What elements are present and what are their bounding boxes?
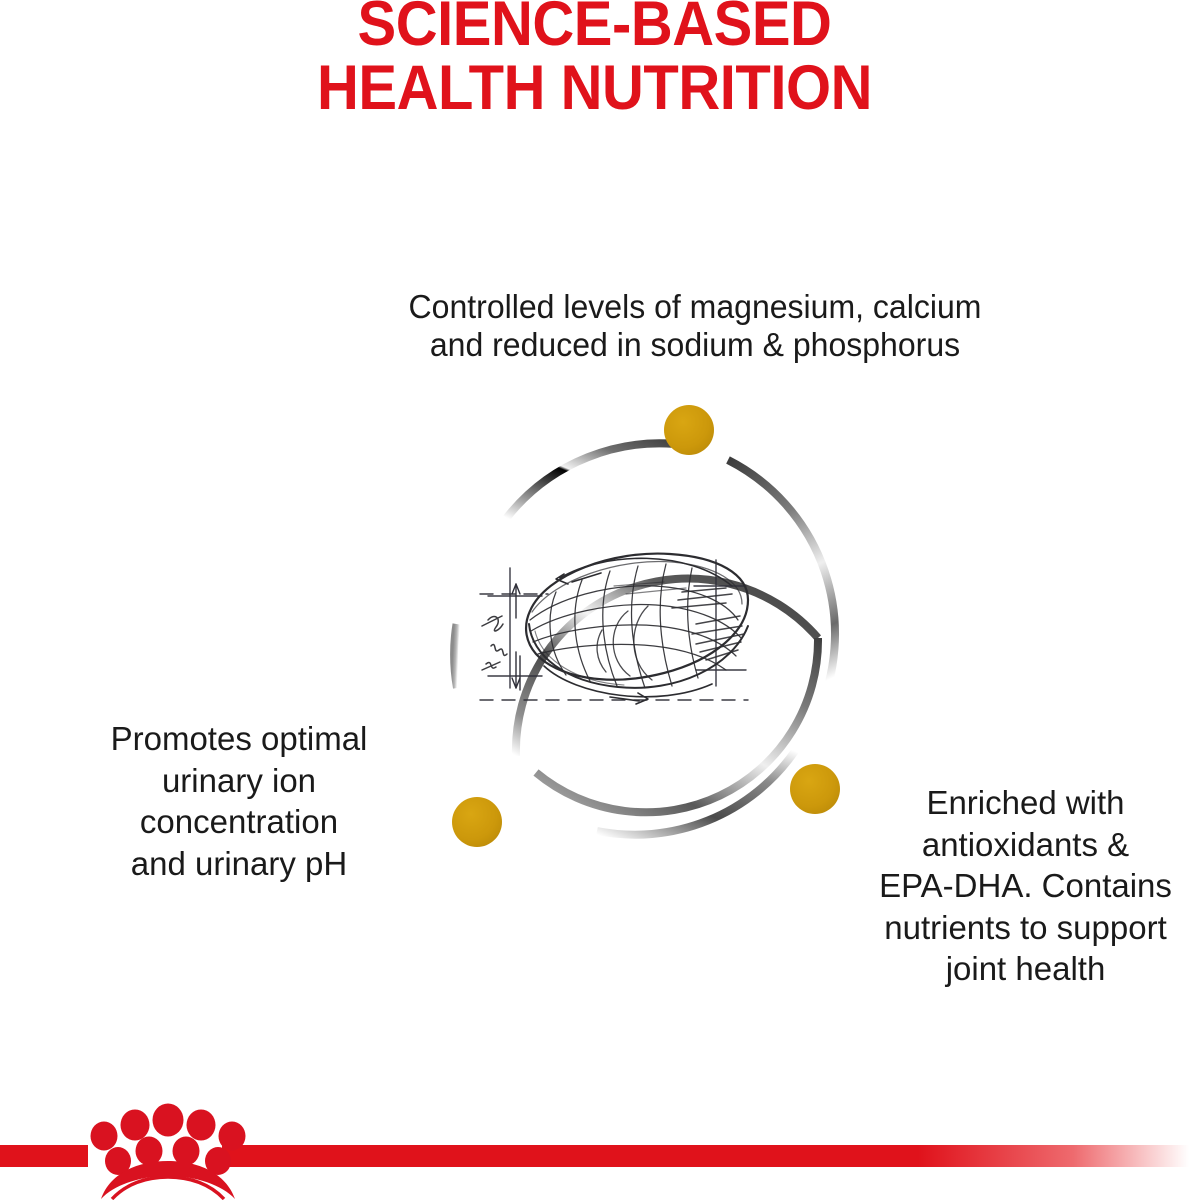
science-based-health-nutrition-panel: SCIENCE-BASED HEALTH NUTRITION Controlle… [0,0,1189,1200]
page-title-line-2: HEALTH NUTRITION [48,56,1142,120]
feature-caption-right-line-1: Enriched with [862,782,1189,824]
page-title-line-1: SCIENCE-BASED [48,0,1142,56]
feature-caption-right-line-3: EPA-DHA. Contains [862,865,1189,907]
feature-caption-left-line-3: concentration [40,801,438,843]
gold-dot-right [790,764,840,814]
feature-caption-left-line-4: and urinary pH [40,843,438,885]
feature-caption-left: Promotes optimal urinary ion concentrati… [40,718,438,884]
feature-caption-right-line-4: nutrients to support [862,907,1189,949]
feature-caption-right-line-2: antioxidants & [862,824,1189,866]
brand-footer [0,1095,1189,1200]
feature-caption-top-line-1: Controlled levels of magnesium, calcium [278,288,1112,326]
kibble-emblem [396,388,896,888]
gold-dot-top [664,405,714,455]
feature-caption-right: Enriched with antioxidants & EPA-DHA. Co… [862,782,1189,990]
gold-dot-bottom-left [452,797,502,847]
crown-logo-icon [91,1104,246,1200]
outer-ring-arc [454,443,835,834]
footer-bar-right [222,1145,1189,1167]
footer-bar-left [0,1145,88,1167]
feature-caption-left-line-1: Promotes optimal [40,718,438,760]
feature-caption-top: Controlled levels of magnesium, calcium … [278,288,1112,365]
feature-caption-left-line-2: urinary ion [40,760,438,802]
feature-caption-top-line-2: and reduced in sodium & phosphorus [278,326,1112,364]
feature-caption-right-line-5: joint health [862,948,1189,990]
page-title: SCIENCE-BASED HEALTH NUTRITION [48,0,1142,121]
